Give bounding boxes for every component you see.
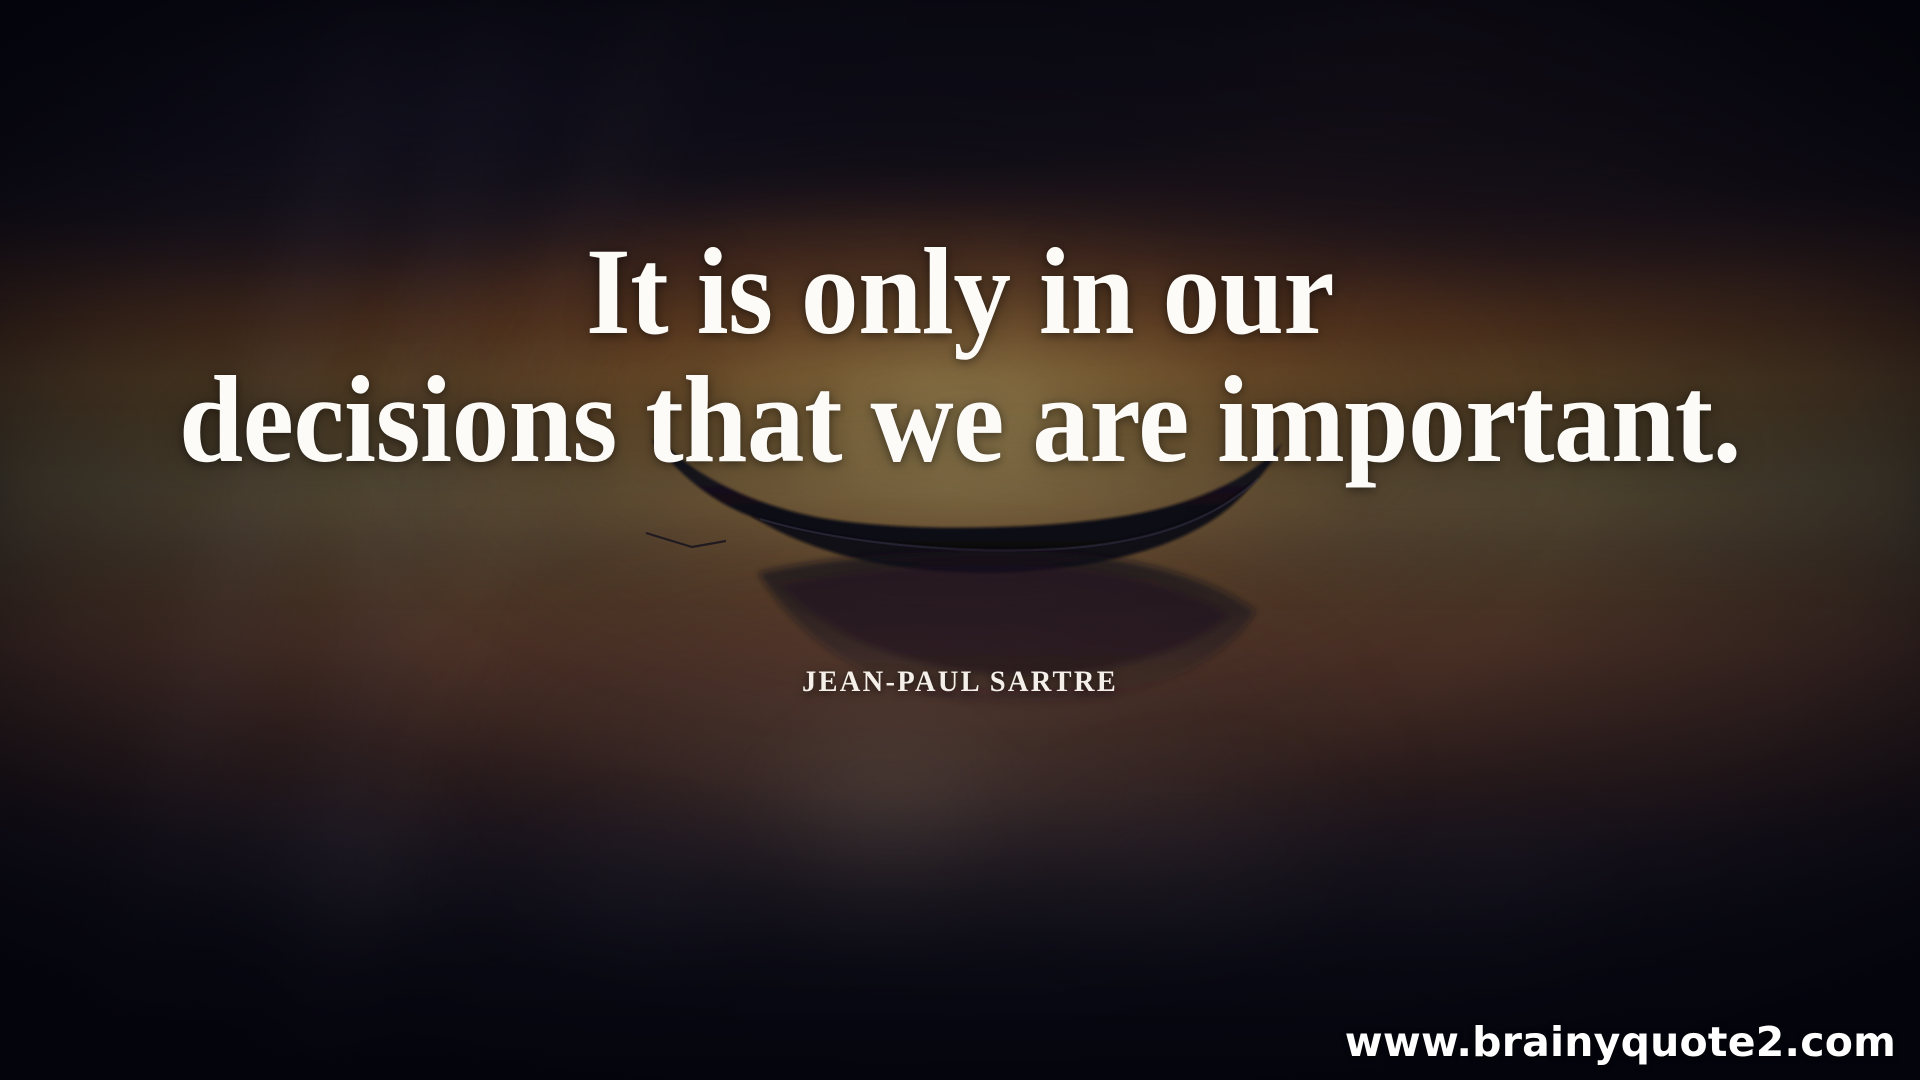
quote-text: It is only in our decisions that we are … <box>0 228 1920 483</box>
quote-author: JEAN-PAUL SARTRE <box>48 665 1872 699</box>
quote-line-2: decisions that we are important. <box>67 356 1853 484</box>
site-watermark: www.brainyquote2.com <box>1345 1018 1896 1066</box>
quote-card: It is only in our decisions that we are … <box>0 0 1920 1080</box>
quote-line-1: It is only in our <box>67 228 1853 356</box>
overlay-content: It is only in our decisions that we are … <box>0 0 1920 1080</box>
